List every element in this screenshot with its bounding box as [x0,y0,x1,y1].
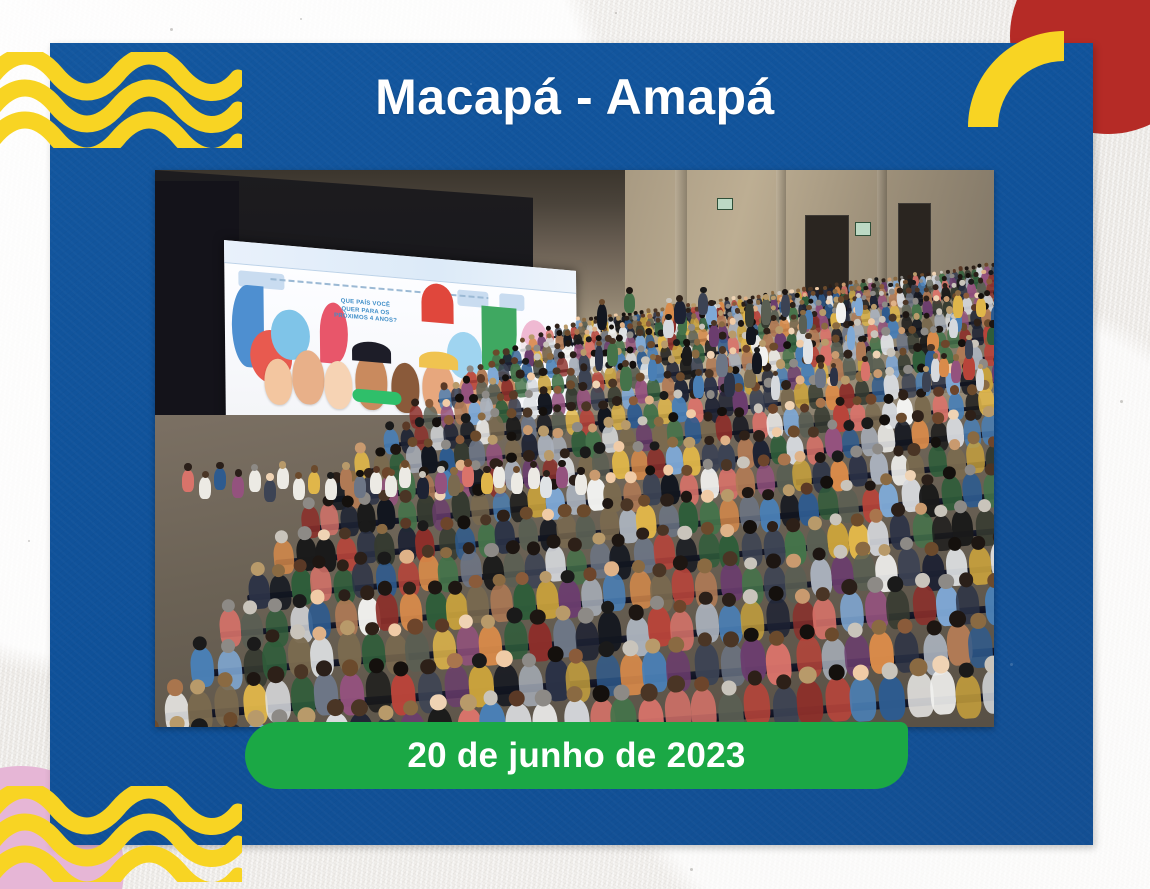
audience-head [431,417,441,427]
audience-head [932,412,945,425]
audience-head [959,662,974,677]
audience-head [973,318,981,326]
audience-head [819,309,826,316]
stage-guest-head [464,459,472,467]
audience-head [939,270,943,274]
audience-head [795,293,800,298]
stage-guest [325,478,337,500]
audience-head [827,291,832,296]
audience-head [564,324,569,329]
audience-head [734,383,744,393]
audience-head [854,318,861,325]
audience-person [743,681,772,727]
standing-attendee-head [927,344,934,351]
audience-head [810,290,816,296]
audience-head [893,276,897,280]
standing-attendee-head [759,340,766,347]
audience-head [981,269,986,274]
audience-head [912,272,917,277]
standing-attendee [951,360,962,383]
standing-attendee [620,366,632,391]
audience-head [841,289,846,294]
audience-head [534,688,552,706]
audience-head [801,286,806,291]
audience-person [878,675,907,721]
audience-head [742,588,758,604]
stage-guest [575,473,587,495]
paper-speck [170,28,173,31]
audience-head [342,658,360,676]
audience-head [945,269,949,273]
audience-head [721,680,737,696]
audience-head [587,320,592,325]
paper-speck [615,12,617,14]
audience-head [984,463,994,476]
standing-attendee-head [700,287,706,293]
audience-head [986,572,994,588]
audience-head [627,603,644,620]
audience-person [981,668,994,714]
paper-speck [28,540,30,542]
stage-guest [399,466,411,488]
standing-attendee [607,343,618,365]
audience-head [686,303,691,308]
audience-head [552,403,561,412]
stage-guest [293,478,305,500]
standing-attendee-head [805,333,811,339]
audience-head [401,421,410,430]
standing-attendee [963,356,975,380]
standing-attendee-head [858,336,864,342]
audience-head [931,271,936,276]
standing-attendee [771,375,780,400]
audience-head [615,334,623,342]
poster-canvas: Macapá - Amapá [0,0,1150,889]
stage-guest-head [342,462,350,470]
audience-head [897,288,903,294]
audience-head [770,290,774,294]
audience-person [848,676,877,722]
standing-attendee [987,327,994,346]
audience-head [719,331,727,339]
stage-guest [340,468,352,490]
audience-head [524,390,532,398]
audience-head [667,354,676,363]
audience-head [543,341,549,347]
audience-head [488,360,496,368]
audience-head [942,295,949,302]
standing-attendee-head [708,300,715,307]
stage-guest-head [450,467,458,475]
audience-head [593,441,606,454]
audience-head [902,299,908,305]
standing-attendee-head [978,364,983,369]
audience-head [814,286,818,290]
stage-guest [528,467,540,489]
standing-attendee [595,345,604,370]
audience-head [821,322,829,330]
stage-guest [308,472,320,494]
standing-attendee [674,301,686,324]
audience-head [290,624,306,640]
audience-person [796,679,825,725]
standing-attendee-head [665,314,671,320]
stage-guest [354,476,366,498]
audience-head [659,390,669,400]
audience-head [952,268,956,272]
stage-guest [481,472,493,494]
audience-head [897,326,905,334]
audience-head [970,535,985,550]
standing-attendee-head [800,310,805,315]
audience-head [584,329,590,335]
stage-guest [417,477,429,499]
audience-head [723,296,728,301]
stage-guest-head [483,466,491,474]
stage-guest [385,475,397,497]
audience-head [734,407,744,417]
standing-attendee [830,367,838,386]
stage-guest [232,476,244,498]
stage-guest [214,468,226,490]
audience-head [951,282,956,287]
audience-head [993,355,994,364]
standing-attendee-head [993,300,994,306]
audience-head [849,285,854,290]
standing-attendee-head [806,305,812,311]
audience-head [707,350,715,358]
paper-speck [1120,400,1123,403]
audience-head [790,314,796,320]
standing-attendee [949,319,958,338]
audience-head [841,282,846,287]
audience-head [718,320,724,326]
standing-attendee [781,294,791,317]
event-photo: QUE PAÍS VOCÊQUER PARA OSPRÓXIMOS 4 ANOS… [155,170,994,727]
audience-head [673,338,680,345]
audience-head [559,448,570,459]
audience-head [554,343,560,349]
audience-head [977,277,983,283]
standing-attendee [761,299,771,325]
audience-head [553,385,562,394]
audience-head [661,340,669,348]
audience-head [847,280,852,285]
standing-attendee [847,326,856,350]
stage-guest-head [311,465,319,473]
audience-head [873,276,878,281]
audience-head [775,359,785,369]
standing-attendee-head [930,326,937,333]
audience-head [632,315,637,320]
audience-head [155,718,159,727]
audience-head [731,296,735,300]
audience-person [772,685,801,727]
stage-guest [277,467,289,489]
stage-guest [264,480,276,502]
audience-head [889,313,897,321]
audience-head [462,375,470,383]
standing-attendee-head [747,299,753,305]
audience-head [991,262,994,267]
standing-attendee [922,371,931,392]
stage-guest [462,465,474,487]
stage-guest [511,472,523,494]
audience-head [920,272,924,276]
audience-head [441,398,450,407]
standing-attendee [836,302,847,323]
audience-head [899,275,903,279]
audience-head [821,338,829,346]
standing-attendee [799,314,807,334]
standing-attendee-head [989,320,994,327]
audience-head [968,278,975,285]
standing-attendee [855,297,863,316]
audience-head [571,322,576,327]
stage-guest-head [437,466,445,474]
audience-head [577,382,587,392]
audience-head [626,330,634,338]
audience-head [971,265,975,269]
audience-head [795,375,805,385]
audience-head [776,291,780,295]
audience-head [170,715,186,727]
audience-head [580,362,589,371]
standing-attendee-head [695,369,702,376]
standing-attendee-head [626,287,633,294]
audience-head [840,375,849,384]
audience-head [984,262,989,267]
stage-guest [540,476,552,498]
standing-attendee [752,352,762,375]
audience-head [698,323,705,330]
stage-guest-head [216,462,224,470]
audience-head [417,519,429,531]
standing-attendee [861,361,870,381]
audience-head [828,284,832,288]
audience-head [246,636,261,651]
standing-attendee [815,368,826,388]
audience-head [718,298,722,302]
audience-head [922,295,929,302]
audience-person [929,669,958,715]
audience-head [818,289,824,295]
audience-head [867,278,872,283]
audience-head [729,330,737,338]
audience-head [663,370,672,379]
audience-head [936,308,943,315]
standing-attendee-head [923,366,929,372]
audience-head [815,299,822,306]
audience-head [808,298,813,303]
date-banner: 20 de junho de 2023 [245,722,908,789]
audience-head [598,399,609,410]
audience-head [962,292,969,299]
audience-head [627,323,634,330]
standing-attendee [939,358,950,377]
standing-attendee-head [719,346,726,353]
audience-head [802,292,807,297]
audience-head [516,369,525,378]
audience-head [533,344,541,352]
audience-head [932,294,939,301]
audience-head [890,299,897,306]
audience-head [789,289,794,294]
audience-head [470,430,482,442]
audience-head [903,279,908,284]
audience-head [870,329,879,338]
standing-attendee [803,338,813,364]
standing-attendee-head [684,341,690,347]
audience-head [351,698,370,717]
date-text: 20 de junho de 2023 [407,738,745,773]
stage-guest [370,472,382,494]
audience-head [851,513,864,526]
wave-lines-bottom-left [0,786,242,887]
audience-head [297,526,312,541]
audience-head [984,655,994,674]
standing-attendee [746,326,756,345]
audience-head [688,324,695,331]
audience-head [976,263,981,268]
audience-head [853,280,857,284]
standing-attendee [693,375,704,398]
stage-guest [435,472,447,494]
standing-attendee [976,298,986,317]
audience-head [881,327,890,336]
standing-attendee-head [650,354,656,360]
stage-guest-head [235,469,243,477]
audience-head [970,612,987,629]
standing-attendee [682,346,691,366]
audience-head [628,396,637,405]
stage-guest-head [401,460,409,468]
standing-attendee [648,359,657,381]
audience-head [481,390,490,399]
audience-head [502,348,509,355]
audience-head [564,339,571,346]
audience-crowd [155,170,994,727]
audience-head [964,266,968,270]
audience-head [881,278,885,282]
audience-head [747,670,763,686]
audience-head [492,348,499,355]
audience-head [635,329,643,337]
audience-head [822,285,826,289]
audience-head [736,295,741,300]
audience-head [912,297,919,304]
paper-speck [300,18,302,20]
wave-lines-top-left [0,52,242,153]
standing-attendee [965,339,973,358]
stage-guest-head [266,473,274,481]
stage-guest [556,466,568,488]
standing-attendee-head [966,335,971,340]
stage-guest [249,470,261,492]
audience-head [512,344,519,351]
audience-head [490,408,499,417]
audience-head [729,318,736,325]
audience-head [741,486,753,498]
audience-head [414,417,424,427]
audience-head [856,286,861,291]
standing-attendee [745,303,754,327]
stage-guest [448,474,460,496]
audience-head [902,310,910,318]
audience-head [942,276,947,281]
audience-head [958,572,974,588]
standing-attendee [624,293,635,313]
audience-head [191,717,209,727]
audience-head [983,289,990,296]
audience-head [795,288,799,292]
audience-head [595,334,602,341]
standing-attendee [953,295,963,318]
standing-attendee [663,319,673,338]
standing-attendee [709,325,719,347]
paper-speck [690,868,693,871]
audience-head [866,576,883,593]
standing-attendee [716,353,728,378]
audience-head [574,338,581,345]
audience-head [983,406,994,418]
audience-head [505,606,522,623]
audience-head [585,336,591,342]
stage-guest [199,477,211,499]
audience-head [993,289,994,296]
standing-attendee [698,293,708,315]
audience-head [906,274,911,279]
audience-head [737,319,744,326]
audience-person [954,673,983,719]
stage-guest-head [184,463,192,471]
standing-attendee [597,304,607,330]
audience-head [742,344,751,353]
audience-head [974,272,979,277]
audience-head [691,349,700,358]
audience-head [882,301,889,308]
audience-head [539,386,548,395]
audience-head [247,709,265,727]
audience-head [575,316,579,320]
stage-guest [182,470,194,492]
stage-guest-head [577,467,585,475]
audience-head [706,390,715,399]
audience-head [564,330,570,336]
audience-head [645,328,652,335]
audience-head [556,330,563,337]
standing-attendee-head [596,341,601,346]
stage-guest [493,466,505,488]
audience-head [958,266,963,271]
standing-attendee [976,368,984,391]
standing-attendee-head [609,338,616,345]
audience-head [834,282,839,287]
